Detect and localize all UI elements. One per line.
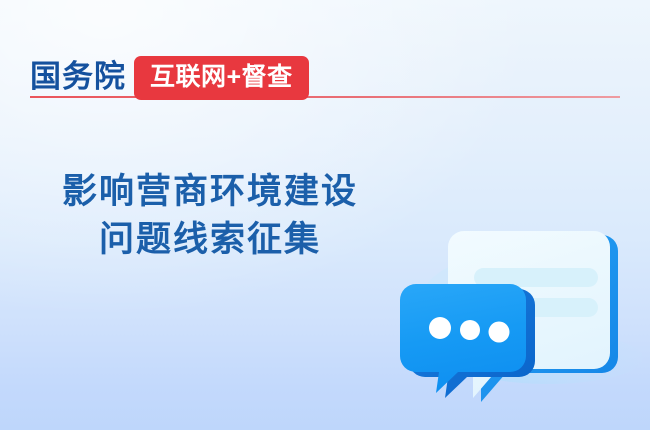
title-line-2: 问题线索征集	[0, 216, 420, 264]
typing-dot-2	[460, 320, 480, 340]
poster-header: 国务院 互联网+督查	[30, 54, 309, 98]
page-title: 影响营商环境建设 问题线索征集	[0, 168, 420, 264]
typing-dot-1	[429, 317, 451, 339]
typing-dot-3	[489, 322, 510, 343]
gov-name-label: 国务院	[30, 61, 126, 92]
chat-bubbles-illustration	[398, 200, 650, 410]
poster-canvas: 国务院 互联网+督查 影响营商环境建设 问题线索征集	[0, 0, 650, 430]
title-line-1: 影响营商环境建设	[0, 168, 420, 216]
internet-supervision-badge: 互联网+督查	[134, 56, 309, 100]
